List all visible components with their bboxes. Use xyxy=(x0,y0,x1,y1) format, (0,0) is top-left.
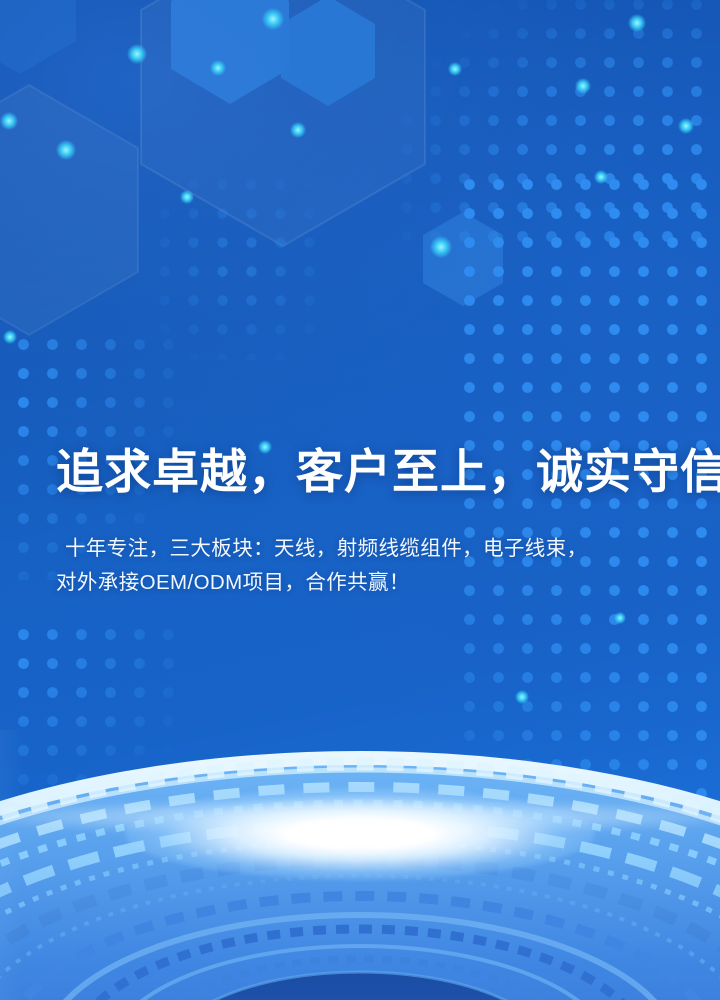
hexagon-filled-b xyxy=(278,0,378,108)
hexagon-outline-large xyxy=(133,0,433,252)
dot-grid-left-lower xyxy=(0,620,190,800)
glow-particle xyxy=(575,78,591,94)
hexagon-filled-c xyxy=(420,210,506,308)
dot-grid-center xyxy=(150,170,330,360)
glow-particle xyxy=(430,236,452,258)
banner-subtitle: 十年专注，三大板块：天线，射频线缆组件，电子线束， 对外承接OEM/ODM项目，… xyxy=(0,504,720,600)
light-flare xyxy=(125,788,595,880)
glow-particle xyxy=(614,612,626,624)
dot-grid-top-right xyxy=(392,0,720,260)
tech-radar-disc xyxy=(0,730,720,1000)
glow-particle xyxy=(127,44,147,64)
hexagon-filled-topleft xyxy=(0,0,80,76)
glow-particle xyxy=(3,330,17,344)
glow-particle xyxy=(180,190,194,204)
banner-copy: 追求卓越，客户至上，诚实守信 十年专注，三大板块：天线，射频线缆组件，电子线束，… xyxy=(0,440,720,600)
hexagon-outline-left xyxy=(0,80,144,340)
light-flare-wide xyxy=(0,800,720,834)
glow-particle xyxy=(448,62,462,76)
glow-particle xyxy=(515,690,529,704)
page-title: 追求卓越，客户至上，诚实守信 xyxy=(0,440,720,504)
glow-particle xyxy=(290,122,306,138)
glow-particle xyxy=(0,112,18,130)
hexagon-filled-a xyxy=(167,0,293,106)
glow-particle xyxy=(56,140,76,160)
glow-particle xyxy=(262,8,284,30)
glow-particle xyxy=(594,170,608,184)
banner-subtitle-line-1: 十年专注，三大板块：天线，射频线缆组件，电子线束， xyxy=(56,532,674,566)
hero-banner: 追求卓越，客户至上，诚实守信 十年专注，三大板块：天线，射频线缆组件，电子线束，… xyxy=(0,0,720,1000)
glow-particle xyxy=(210,60,226,76)
glow-particle xyxy=(678,118,694,134)
glow-particle xyxy=(628,14,646,32)
banner-subtitle-line-2: 对外承接OEM/ODM项目，合作共赢！ xyxy=(56,566,674,600)
